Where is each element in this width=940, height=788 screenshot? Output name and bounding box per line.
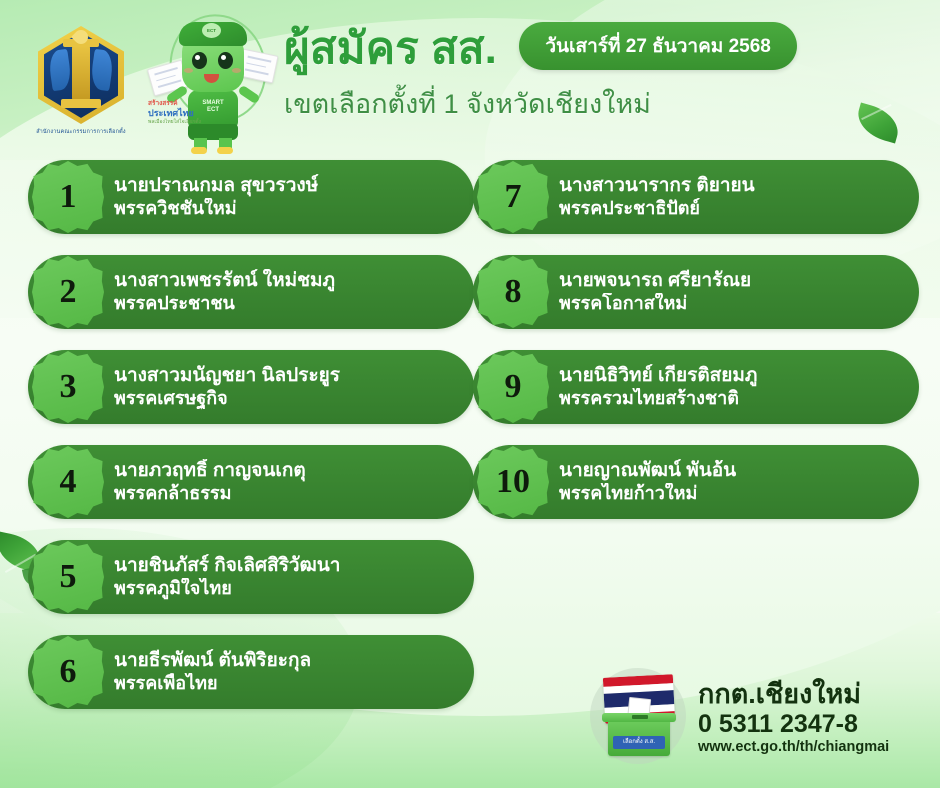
- candidate-party: พรรคเพื่อไทย: [114, 673, 458, 695]
- candidate-number: 2: [60, 275, 77, 309]
- ect-seal-icon: สำนักงานคณะกรรมการการเลือกตั้ง: [22, 16, 140, 134]
- candidate-party: พรรคกล้าธรรม: [114, 483, 458, 505]
- candidate-info: นางสาวมนัญชยา นิลประยูรพรรคเศรษฐกิจ: [104, 364, 474, 409]
- slogan-line-2: ประเทศไทย: [148, 108, 212, 119]
- candidate-card[interactable]: 7นางสาวนารากร ติยายนพรรคประชาธิปัตย์: [473, 160, 919, 234]
- candidate-name: นายนิธิวิทย์ เกียรติสยมภู: [559, 364, 903, 387]
- footer-contact: กกต.เชียงใหม่ 0 5311 2347-8 www.ect.go.t…: [690, 680, 926, 756]
- footer-website: www.ect.go.th/th/chiangmai: [698, 739, 926, 756]
- footer-organization: กกต.เชียงใหม่: [698, 680, 926, 710]
- ect-mascot-icon: SMART ECT ECT สร้างสรรค์ ประเทศไทย พลเมื…: [148, 8, 278, 154]
- candidate-party: พรรคไทยก้าวใหม่: [559, 483, 903, 505]
- candidate-info: นายญาณพัฒน์ พันอ้นพรรคไทยก้าวใหม่: [549, 459, 919, 504]
- candidate-party: พรรคโอกาสใหม่: [559, 293, 903, 315]
- candidate-name: นายพจนารถ ศรียารัณย: [559, 269, 903, 292]
- footer-telephone: 0 5311 2347-8: [698, 710, 926, 739]
- candidate-number: 4: [60, 465, 77, 499]
- candidate-party: พรรคเศรษฐกิจ: [114, 388, 458, 410]
- candidate-number-badge: 6: [32, 636, 104, 708]
- candidate-info: นายธีรพัฒน์ ตันพิริยะกุลพรรคเพื่อไทย: [104, 649, 474, 694]
- candidate-number-badge: 9: [477, 351, 549, 423]
- candidate-info: นางสาวนารากร ติยายนพรรคประชาธิปัตย์: [549, 174, 919, 219]
- candidate-number: 10: [496, 465, 530, 499]
- candidate-card[interactable]: 9นายนิธิวิทย์ เกียรติสยมภูพรรครวมไทยสร้า…: [473, 350, 919, 424]
- candidate-number-badge: 1: [32, 161, 104, 233]
- candidate-number-badge: 3: [32, 351, 104, 423]
- footer: เลือกตั้ง ส.ส. กกต.เชียงใหม่ 0 5311 2347…: [586, 660, 926, 776]
- candidate-number-badge: 8: [477, 256, 549, 328]
- candidate-card[interactable]: 5นายชินภัสร์ กิจเลิศสิริวัฒนาพรรคภูมิใจไ…: [28, 540, 474, 614]
- candidate-number: 5: [60, 560, 77, 594]
- candidate-party: พรรครวมไทยสร้างชาติ: [559, 388, 903, 410]
- candidate-info: นายชินภัสร์ กิจเลิศสิริวัฒนาพรรคภูมิใจไท…: [104, 554, 474, 599]
- candidate-party: พรรควิชชั่นใหม่: [114, 198, 458, 220]
- candidate-name: นายปราณกมล สุขวรวงษ์: [114, 174, 458, 197]
- candidate-party: พรรคประชาชน: [114, 293, 458, 315]
- candidate-number: 7: [505, 180, 522, 214]
- candidate-name: นางสาวมนัญชยา นิลประยูร: [114, 364, 458, 387]
- seal-caption: สำนักงานคณะกรรมการการเลือกตั้ง: [22, 128, 140, 136]
- candidate-card[interactable]: 4นายภวฤทธิ์ กาญจนเกตุพรรคกล้าธรรม: [28, 445, 474, 519]
- candidate-card[interactable]: 10นายญาณพัฒน์ พันอ้นพรรคไทยก้าวใหม่: [473, 445, 919, 519]
- candidate-number-badge: 4: [32, 446, 104, 518]
- candidate-info: นายนิธิวิทย์ เกียรติสยมภูพรรครวมไทยสร้าง…: [549, 364, 919, 409]
- slogan-line-3: พลเมืองไทยใส่ใจเลือกตั้ง: [148, 119, 212, 125]
- candidate-column-left: 1นายปราณกมล สุขวรวงษ์พรรควิชชั่นใหม่2นาง…: [28, 160, 474, 730]
- mascot-slogan: สร้างสรรค์ ประเทศไทย พลเมืองไทยใส่ใจเลือ…: [148, 100, 212, 126]
- candidate-number-badge: 5: [32, 541, 104, 613]
- mascot-cap-badge: ECT: [202, 23, 221, 38]
- candidate-info: นายปราณกมล สุขวรวงษ์พรรควิชชั่นใหม่: [104, 174, 474, 219]
- candidate-number-badge: 2: [32, 256, 104, 328]
- candidate-info: นายภวฤทธิ์ กาญจนเกตุพรรคกล้าธรรม: [104, 459, 474, 504]
- candidate-info: นางสาวเพชรรัตน์ ใหม่ชมภูพรรคประชาชน: [104, 269, 474, 314]
- candidate-card[interactable]: 1นายปราณกมล สุขวรวงษ์พรรควิชชั่นใหม่: [28, 160, 474, 234]
- election-date-badge: วันเสาร์ที่ 27 ธันวาคม 2568: [519, 22, 797, 70]
- candidate-number: 6: [60, 655, 77, 689]
- slogan-line-1: สร้างสรรค์: [148, 100, 212, 108]
- title-block: ผู้สมัคร สส. วันเสาร์ที่ 27 ธันวาคม 2568…: [284, 22, 904, 125]
- candidate-number: 8: [505, 275, 522, 309]
- candidate-name: นายธีรพัฒน์ ตันพิริยะกุล: [114, 649, 458, 672]
- ballot-box-flag-icon: เลือกตั้ง ส.ส.: [586, 666, 690, 770]
- candidate-name: นายภวฤทธิ์ กาญจนเกตุ: [114, 459, 458, 482]
- candidate-card[interactable]: 6นายธีรพัฒน์ ตันพิริยะกุลพรรคเพื่อไทย: [28, 635, 474, 709]
- candidate-name: นางสาวนารากร ติยายน: [559, 174, 903, 197]
- constituency-subtitle: เขตเลือกตั้งที่ 1 จังหวัดเชียงใหม่: [284, 82, 904, 125]
- page-title: ผู้สมัคร สส.: [284, 26, 497, 72]
- candidate-card[interactable]: 8นายพจนารถ ศรียารัณยพรรคโอกาสใหม่: [473, 255, 919, 329]
- header: สำนักงานคณะกรรมการการเลือกตั้ง SMART ECT…: [0, 0, 940, 158]
- candidate-number-badge: 10: [477, 446, 549, 518]
- candidate-column-right: 7นางสาวนารากร ติยายนพรรคประชาธิปัตย์8นาย…: [473, 160, 919, 540]
- ballot-box-label: เลือกตั้ง ส.ส.: [613, 736, 665, 749]
- candidate-number: 3: [60, 370, 77, 404]
- candidate-name: นางสาวเพชรรัตน์ ใหม่ชมภู: [114, 269, 458, 292]
- candidate-card[interactable]: 2นางสาวเพชรรัตน์ ใหม่ชมภูพรรคประชาชน: [28, 255, 474, 329]
- candidate-party: พรรคประชาธิปัตย์: [559, 198, 903, 220]
- candidate-party: พรรคภูมิใจไทย: [114, 578, 458, 600]
- candidate-name: นายชินภัสร์ กิจเลิศสิริวัฒนา: [114, 554, 458, 577]
- candidate-number: 1: [60, 180, 77, 214]
- candidate-number: 9: [505, 370, 522, 404]
- infographic-canvas: สำนักงานคณะกรรมการการเลือกตั้ง SMART ECT…: [0, 0, 940, 788]
- candidate-card[interactable]: 3นางสาวมนัญชยา นิลประยูรพรรคเศรษฐกิจ: [28, 350, 474, 424]
- candidate-info: นายพจนารถ ศรียารัณยพรรคโอกาสใหม่: [549, 269, 919, 314]
- candidate-name: นายญาณพัฒน์ พันอ้น: [559, 459, 903, 482]
- candidate-number-badge: 7: [477, 161, 549, 233]
